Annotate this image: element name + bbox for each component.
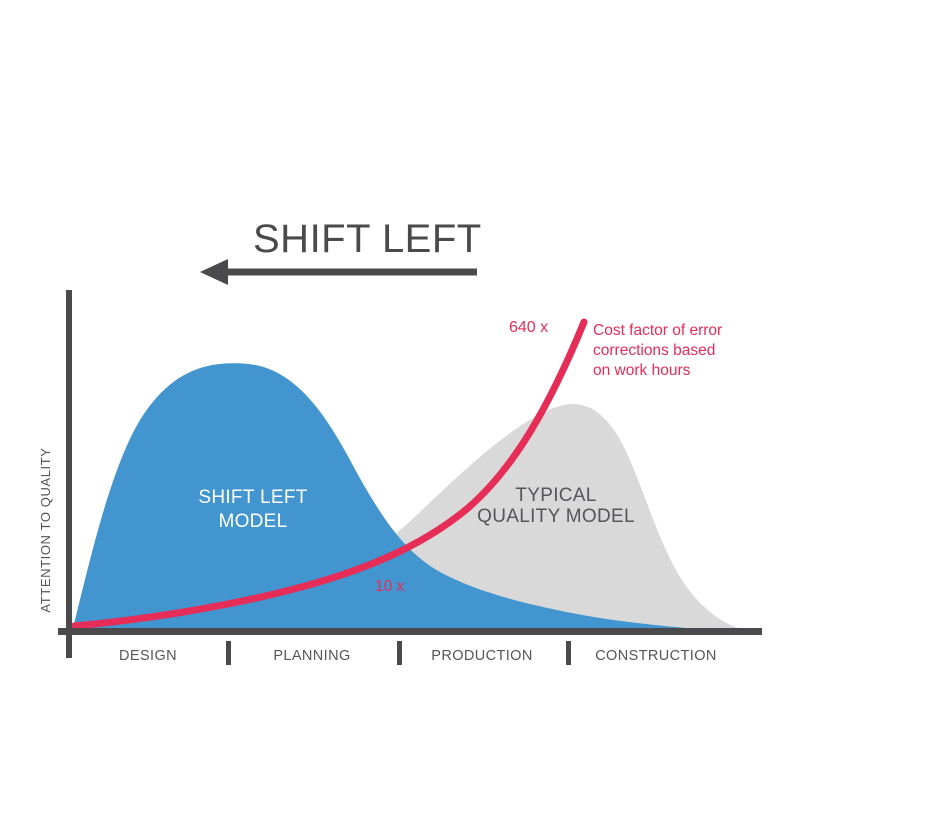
cost-note-line2: corrections based — [593, 342, 715, 359]
cost-note-line1: Cost factor of error — [593, 322, 722, 339]
shift-left-diagram: SHIFT LEFT DESIGN PLANNING PRODUCTION CO… — [0, 0, 930, 837]
y-axis-line — [66, 290, 72, 658]
x-axis-tick — [397, 641, 402, 665]
shift-left-model-label-line1: SHIFT LEFT — [198, 487, 307, 508]
cost-marker-10x: 10 x — [375, 578, 405, 595]
x-axis-tick — [226, 641, 231, 665]
page-title: SHIFT LEFT — [253, 217, 482, 261]
x-axis-label-production: PRODUCTION — [431, 648, 532, 664]
shift-left-model-label-line2: MODEL — [218, 511, 287, 532]
y-axis-title: ATTENTION TO QUALITY — [38, 447, 53, 612]
x-axis-label-planning: PLANNING — [273, 648, 350, 664]
x-axis-tick — [566, 641, 571, 665]
typical-quality-model-label-line1: TYPICAL — [515, 485, 596, 506]
x-axis-label-design: DESIGN — [119, 648, 177, 664]
x-axis-line — [58, 628, 762, 635]
typical-quality-model-label-line2: QUALITY MODEL — [477, 506, 635, 527]
shift-left-arrow-icon — [200, 259, 477, 285]
cost-marker-640x: 640 x — [509, 319, 548, 336]
cost-note-line3: on work hours — [593, 362, 691, 379]
x-axis-label-construction: CONSTRUCTION — [595, 648, 717, 664]
